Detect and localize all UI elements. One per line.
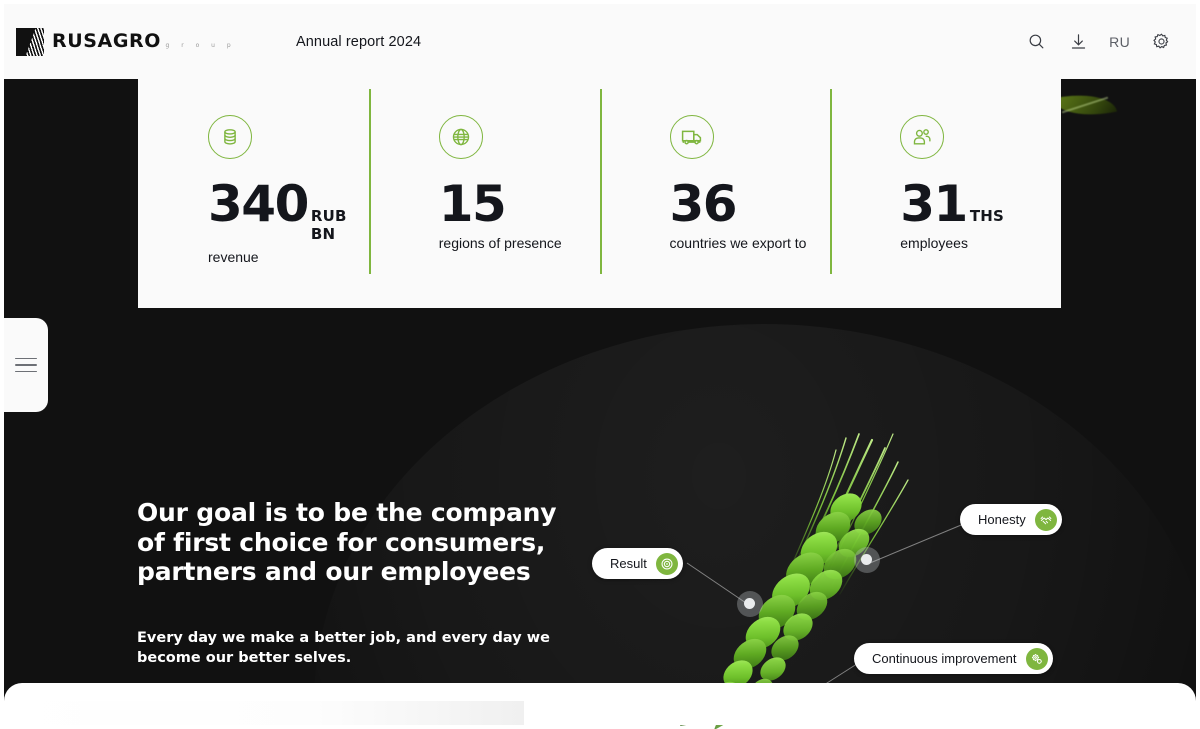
sidebar-menu-toggle[interactable] [4,318,48,412]
topbar-actions: RU [1025,31,1172,53]
handshake-icon [1035,509,1057,531]
coins-stack-icon [208,115,252,159]
stat-number: 340 [208,181,308,229]
next-section-sheet [4,683,1196,725]
connector-node-honesty [861,554,872,565]
stat-label: revenue [208,249,369,265]
value-pill-continuous-improvement[interactable]: Continuous improvement [854,643,1053,674]
stat-number: 36 [670,181,737,229]
globe-icon [439,115,483,159]
rusagro-logo-icon [16,28,44,56]
logo-text: RUSAGRO g r o u p [52,32,236,51]
logo-name: RUSAGRO [52,30,161,52]
connector-node-result [744,598,755,609]
stat-value: 36 [670,181,831,229]
value-pill-label: Honesty [978,512,1026,527]
stat-value: 15 [439,181,600,229]
report-title: Annual report 2024 [296,34,421,50]
truck-icon [670,115,714,159]
stat-revenue: 340 RUB BN revenue [138,115,369,265]
stat-value: 31 THS [900,181,1061,229]
brand-logo[interactable]: RUSAGRO g r o u p [16,28,236,56]
stat-unit: THS [970,207,1004,225]
language-switch[interactable]: RU [1109,34,1130,50]
search-icon[interactable] [1025,31,1047,53]
logo-subtitle: g r o u p [165,42,235,49]
stat-employees: 31 THS employees [830,115,1061,251]
stat-label: regions of presence [439,235,600,251]
hero-text-block: Our goal is to be the company of first c… [137,498,567,669]
people-icon [900,115,944,159]
stat-number: 31 [900,181,967,229]
value-pill-label: Continuous improvement [872,651,1017,666]
key-figures-panel: 340 RUB BN revenue 15 regions of presenc… [138,79,1061,308]
page-root: Result Honesty Continuous improvement [0,0,1200,729]
stat-regions: 15 regions of presence [369,115,600,251]
stat-countries: 36 countries we export to [600,115,831,251]
stat-label: employees [900,235,1061,251]
download-icon[interactable] [1067,31,1089,53]
target-icon [656,553,678,575]
top-navigation-bar: RUSAGRO g r o u p Annual report 2024 RU [4,4,1196,79]
value-pill-label: Result [610,556,647,571]
hero-headline: Our goal is to be the company of first c… [137,498,567,587]
value-pill-result[interactable]: Result [592,548,683,579]
hamburger-menu-icon [15,353,37,378]
hero-subtext: Every day we make a better job, and ever… [137,628,567,670]
stat-unit: RUB BN [311,207,369,243]
gear-icon[interactable] [1150,31,1172,53]
stat-label: countries we export to [670,235,831,251]
gears-icon [1026,648,1048,670]
value-pill-honesty[interactable]: Honesty [960,504,1062,535]
stat-number: 15 [439,181,506,229]
stat-value: 340 RUB BN [208,181,369,243]
